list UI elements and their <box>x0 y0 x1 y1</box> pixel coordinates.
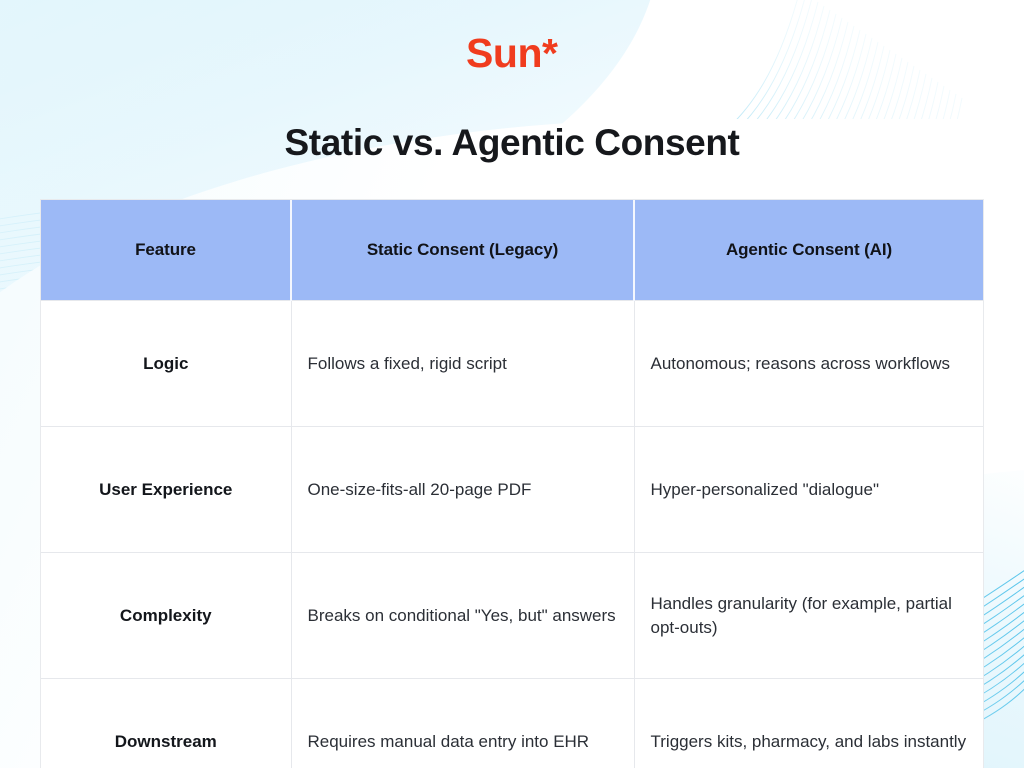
table-row: Logic Follows a fixed, rigid script Auto… <box>41 301 983 427</box>
cell-agentic-logic: Autonomous; reasons across workflows <box>634 301 983 427</box>
column-header-feature: Feature <box>41 200 291 301</box>
column-header-static-consent: Static Consent (Legacy) <box>291 200 634 301</box>
page-title: Static vs. Agentic Consent <box>0 122 1024 165</box>
cell-feature-downstream: Downstream <box>41 679 291 768</box>
table-body: Logic Follows a fixed, rigid script Auto… <box>41 301 983 768</box>
comparison-table: Feature Static Consent (Legacy) Agentic … <box>41 200 983 768</box>
sun-asterisk-logo: Sun* <box>0 33 1024 74</box>
cell-static-logic: Follows a fixed, rigid script <box>291 301 634 427</box>
table-row: User Experience One-size-fits-all 20-pag… <box>41 427 983 553</box>
comparison-table-container: Feature Static Consent (Legacy) Agentic … <box>41 200 983 768</box>
cell-feature-user-experience: User Experience <box>41 427 291 553</box>
slide-canvas: Sun* Static vs. Agentic Consent Feature … <box>0 0 1024 768</box>
cell-agentic-complexity: Handles granularity (for example, partia… <box>634 553 983 679</box>
table-row: Downstream Requires manual data entry in… <box>41 679 983 768</box>
column-header-agentic-consent: Agentic Consent (AI) <box>634 200 983 301</box>
cell-feature-logic: Logic <box>41 301 291 427</box>
cell-agentic-user-experience: Hyper-personalized "dialogue" <box>634 427 983 553</box>
cell-agentic-downstream: Triggers kits, pharmacy, and labs instan… <box>634 679 983 768</box>
table-header-row: Feature Static Consent (Legacy) Agentic … <box>41 200 983 301</box>
cell-static-complexity: Breaks on conditional "Yes, but" answers <box>291 553 634 679</box>
cell-static-downstream: Requires manual data entry into EHR <box>291 679 634 768</box>
asterisk-icon: * <box>542 30 558 76</box>
cell-feature-complexity: Complexity <box>41 553 291 679</box>
table-row: Complexity Breaks on conditional "Yes, b… <box>41 553 983 679</box>
table-header: Feature Static Consent (Legacy) Agentic … <box>41 200 983 301</box>
cell-static-user-experience: One-size-fits-all 20-page PDF <box>291 427 634 553</box>
logo-wordmark: Sun <box>466 30 542 76</box>
